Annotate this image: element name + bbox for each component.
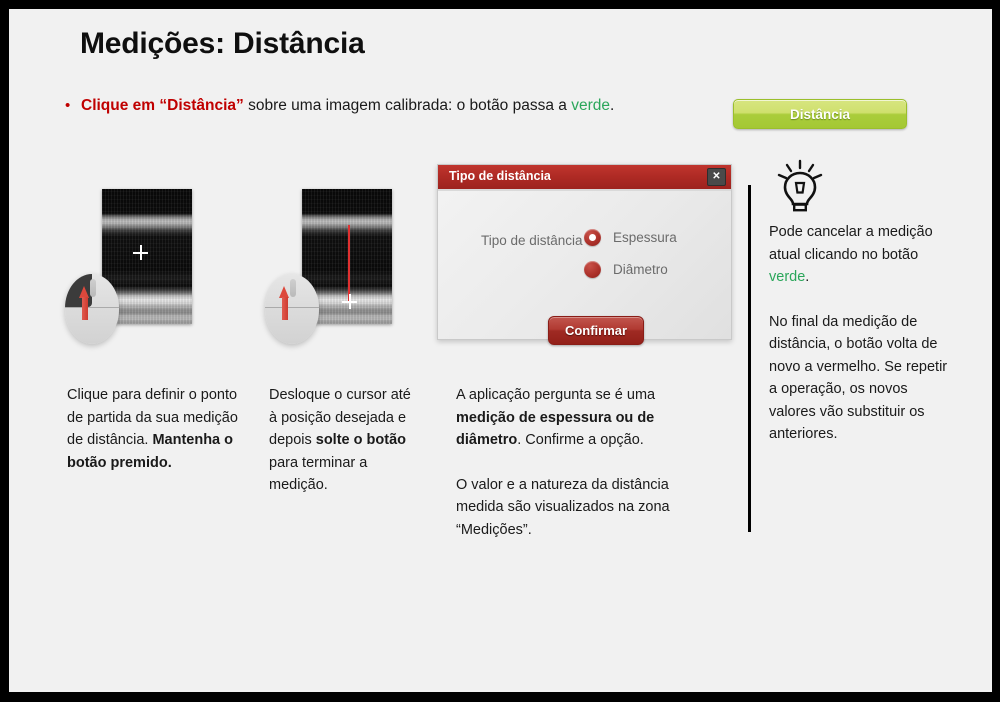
tip-paragraph-1: Pode cancelar a medição atual clicando n… xyxy=(769,221,951,289)
caption3-plain1: A aplicação pergunta se é uma xyxy=(456,387,655,403)
mouse-button-divider xyxy=(265,307,319,308)
vertical-divider xyxy=(748,185,751,532)
crosshair-marker-start xyxy=(133,245,148,260)
mouse-icon-released xyxy=(265,274,319,344)
caption2-plain2: para terminar a medição. xyxy=(269,455,367,494)
crosshair-marker-drag xyxy=(342,294,357,309)
radio-option-diametro[interactable]: Diâmetro xyxy=(584,261,668,278)
bullet-middle-text: sobre uma imagem calibrada: o botão pass… xyxy=(244,97,571,114)
mouse-button-divider xyxy=(65,307,119,308)
measurement-line xyxy=(348,225,350,301)
bullet-row: •Clique em “Distância” sobre uma imagem … xyxy=(65,97,614,115)
confirm-button[interactable]: Confirmar xyxy=(548,316,644,345)
caption-drag: Desloque o cursor até à posição desejada… xyxy=(269,384,415,497)
radio-label-espessura: Espessura xyxy=(613,230,677,245)
distancia-button[interactable]: Distância xyxy=(733,99,907,129)
caption-dialog: A aplicação pergunta se é uma medição de… xyxy=(456,384,694,541)
caption3-plain2: . Confirme a opção. xyxy=(517,432,644,448)
confirm-button-label: Confirmar xyxy=(565,323,627,338)
tip-paragraph-2: No final da medição de distância, o botã… xyxy=(769,311,951,446)
bullet-red-text: Clique em “Distância” xyxy=(81,97,244,114)
red-up-arrow-icon xyxy=(79,286,90,320)
dialog-title: Tipo de distância xyxy=(449,169,551,183)
slide-canvas: Medições: Distância •Clique em “Distânci… xyxy=(9,9,992,692)
mouse-wheel-icon xyxy=(90,279,96,297)
caption-start-point: Clique para definir o ponto de partida d… xyxy=(67,384,245,474)
radio-button-icon-unselected[interactable] xyxy=(584,261,601,278)
bullet-marker: • xyxy=(65,97,81,114)
page-title: Medições: Distância xyxy=(80,27,365,61)
radio-option-espessura[interactable]: Espessura xyxy=(584,229,677,246)
dialog-body: Tipo de distância Espessura Diâmetro Con… xyxy=(438,191,731,341)
tip-green-word: verde xyxy=(769,269,805,285)
dialog-titlebar: Tipo de distância ✕ xyxy=(438,165,731,191)
drag-figure xyxy=(265,189,415,344)
start-point-figure xyxy=(65,189,215,344)
mouse-wheel-icon xyxy=(290,279,296,297)
slide-frame: Medições: Distância •Clique em “Distânci… xyxy=(0,0,1000,702)
tip-plain1: Pode cancelar a medição atual clicando n… xyxy=(769,224,933,263)
caption3-paragraph-1: A aplicação pergunta se é uma medição de… xyxy=(456,384,694,452)
radio-button-icon-selected[interactable] xyxy=(584,229,601,246)
tip-text: Pode cancelar a medição atual clicando n… xyxy=(769,221,951,446)
dialog-field-label: Tipo de distância xyxy=(481,233,583,248)
radio-label-diametro: Diâmetro xyxy=(613,262,668,277)
caption3-paragraph-2: O valor e a natureza da distância medida… xyxy=(456,474,694,542)
mouse-icon-pressed xyxy=(65,274,119,344)
arrow-shaft xyxy=(282,297,288,320)
bullet-end-text: . xyxy=(610,97,614,114)
red-up-arrow-icon xyxy=(279,286,290,320)
close-icon[interactable]: ✕ xyxy=(707,168,726,186)
bullet-green-word: verde xyxy=(571,97,610,114)
caption2-bold: solte o botão xyxy=(316,432,406,448)
lightbulb-icon xyxy=(776,159,824,222)
tip-plain2: . xyxy=(805,269,809,285)
tipo-de-distancia-dialog: Tipo de distância ✕ Tipo de distância Es… xyxy=(437,164,732,340)
arrow-shaft xyxy=(82,297,88,320)
distancia-button-label: Distância xyxy=(790,107,850,122)
